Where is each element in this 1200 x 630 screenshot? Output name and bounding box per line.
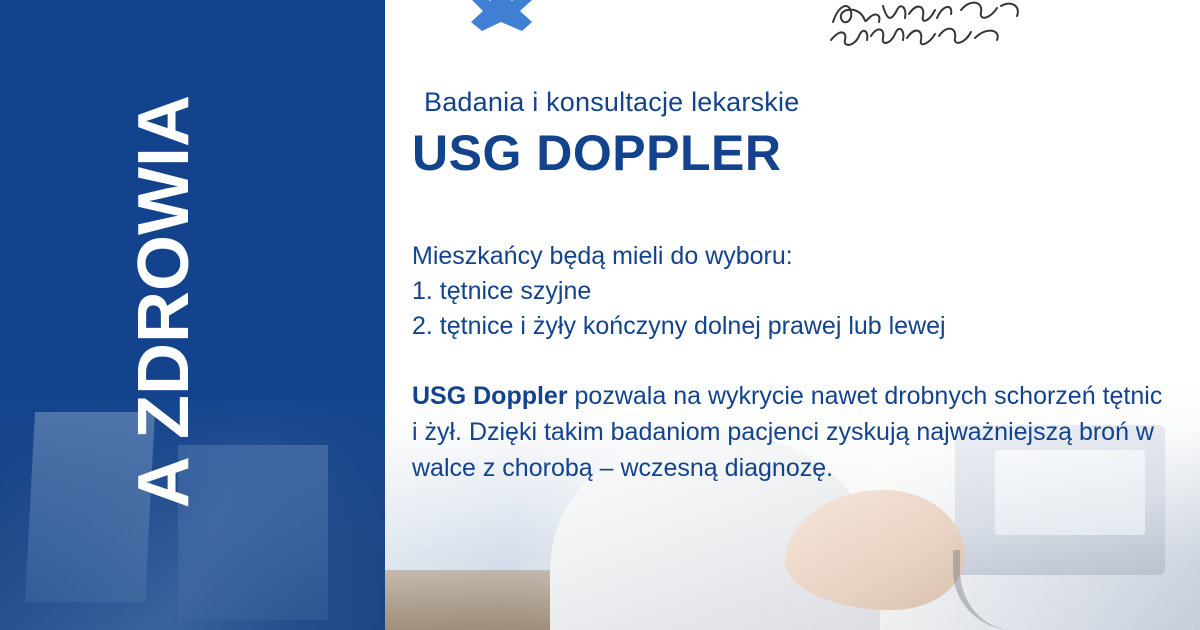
option-line-2: 2. tętnice i żyły kończyny dolnej prawej… [412,309,1172,344]
description-paragraph: USG Doppler pozwala na wykrycie nawet dr… [412,378,1172,486]
body-text-block: Mieszkańcy będą mieli do wyboru: 1. tętn… [412,239,1172,486]
poster-text-content: Badania i konsultacje lekarskie USG DOPP… [412,86,1172,486]
right-content-area: Badania i konsultacje lekarskie USG DOPP… [385,0,1200,630]
eyebrow-text: Badania i konsultacje lekarskie [424,86,1172,118]
left-blue-panel: A ZDROWIA [0,0,385,630]
handwritten-signature-icon [825,0,1045,62]
vertical-title: A ZDROWIA [128,95,200,508]
intro-line: Mieszkańcy będą mieli do wyboru: [412,239,1172,274]
description-lead: USG Doppler [412,382,568,410]
poster: A ZDROWIA [0,0,1200,630]
blue-cross-icon [470,0,532,44]
option-line-1: 1. tętnice szyjne [412,274,1172,309]
photo-probe-cable [953,550,1080,630]
headline-title: USG DOPPLER [412,126,1172,181]
